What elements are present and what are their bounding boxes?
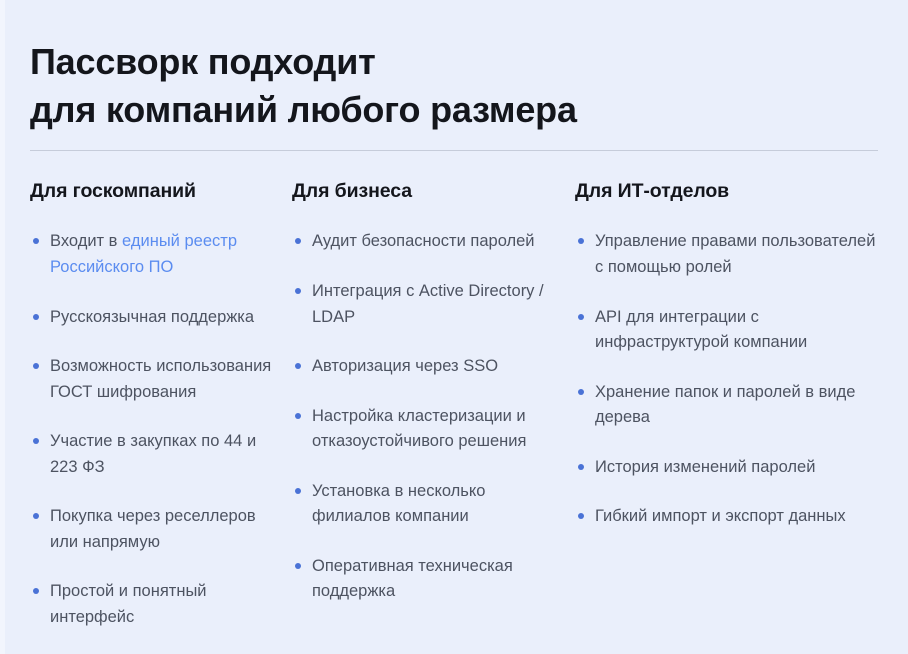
page-title: Пассворк подходит для компаний любого ра… <box>30 38 850 134</box>
list-item-text: Установка в несколько филиалов компании <box>312 482 485 526</box>
feature-list: Аудит безопасности паролейИнтеграция с A… <box>292 229 555 605</box>
list-item: Входит в единый реестр Российского ПО <box>30 229 274 280</box>
bullet-dot-icon <box>33 588 39 594</box>
page-title-line-2: для компаний любого размера <box>30 86 850 134</box>
bullet-dot-icon <box>33 238 39 244</box>
list-item: Управление правами пользователей с помощ… <box>575 229 888 280</box>
feature-list: Входит в единый реестр Российского ПОРус… <box>30 229 274 630</box>
feature-column: Для ИТ-отделовУправление правами пользов… <box>575 180 908 530</box>
list-item: Настройка кластеризации и отказоустойчив… <box>292 404 555 455</box>
list-item: Хранение папок и паролей в виде дерева <box>575 380 888 431</box>
list-item: API для интеграции с инфраструктурой ком… <box>575 305 888 356</box>
bullet-dot-icon <box>295 563 301 569</box>
list-item: Авторизация через SSO <box>292 354 555 380</box>
list-item: Интеграция с Active Directory / LDAP <box>292 279 555 330</box>
list-item: Возможность использования ГОСТ шифровани… <box>30 354 274 405</box>
list-item-text: Гибкий импорт и экспорт данных <box>595 507 846 525</box>
bullet-dot-icon <box>295 363 301 369</box>
bullet-dot-icon <box>295 413 301 419</box>
list-item-text: Покупка через реселлеров или напрямую <box>50 507 256 551</box>
list-item-text: Возможность использования ГОСТ шифровани… <box>50 357 271 401</box>
list-item: Оперативная техническая поддержка <box>292 554 555 605</box>
bullet-dot-icon <box>578 314 584 320</box>
feature-columns: Для госкомпанийВходит в единый реестр Ро… <box>0 180 908 631</box>
column-title: Для ИТ-отделов <box>575 180 888 203</box>
column-title: Для госкомпаний <box>30 180 274 203</box>
bullet-dot-icon <box>295 488 301 494</box>
list-item-text: Управление правами пользователей с помощ… <box>595 232 875 276</box>
list-item-text: Настройка кластеризации и отказоустойчив… <box>312 407 526 451</box>
feature-column: Для госкомпанийВходит в единый реестр Ро… <box>0 180 292 631</box>
bullet-dot-icon <box>578 238 584 244</box>
list-item-text: Аудит безопасности паролей <box>312 232 535 250</box>
bullet-dot-icon <box>295 288 301 294</box>
list-item-text: История изменений паролей <box>595 458 815 476</box>
bullet-dot-icon <box>33 363 39 369</box>
list-item-text: API для интеграции с инфраструктурой ком… <box>595 308 807 352</box>
feature-list: Управление правами пользователей с помощ… <box>575 229 888 530</box>
list-item: История изменений паролей <box>575 455 888 481</box>
column-title: Для бизнеса <box>292 180 555 203</box>
list-item-text: Участие в закупках по 44 и 223 ФЗ <box>50 432 256 476</box>
list-item-text: Интеграция с Active Directory / LDAP <box>312 282 544 326</box>
bullet-dot-icon <box>33 314 39 320</box>
bullet-dot-icon <box>578 389 584 395</box>
bullet-dot-icon <box>295 238 301 244</box>
horizontal-divider <box>30 150 878 151</box>
bullet-dot-icon <box>578 513 584 519</box>
bullet-dot-icon <box>33 438 39 444</box>
bullet-dot-icon <box>33 513 39 519</box>
list-item: Гибкий импорт и экспорт данных <box>575 504 888 530</box>
feature-column: Для бизнесаАудит безопасности паролейИнт… <box>292 180 575 605</box>
list-item-text: Русскоязычная поддержка <box>50 308 254 326</box>
list-item-text: Хранение папок и паролей в виде дерева <box>595 383 855 427</box>
list-item: Установка в несколько филиалов компании <box>292 479 555 530</box>
list-item: Участие в закупках по 44 и 223 ФЗ <box>30 429 274 480</box>
list-item-text: Авторизация через SSO <box>312 357 498 375</box>
bullet-dot-icon <box>578 464 584 470</box>
list-item-text: Оперативная техническая поддержка <box>312 557 513 601</box>
page-title-line-1: Пассворк подходит <box>30 38 850 86</box>
list-item: Русскоязычная поддержка <box>30 305 274 331</box>
page-root: Пассворк подходит для компаний любого ра… <box>0 0 908 654</box>
list-item-text: Простой и понятный интерфейс <box>50 582 207 626</box>
list-item: Аудит безопасности паролей <box>292 229 555 255</box>
list-item: Покупка через реселлеров или напрямую <box>30 504 274 555</box>
list-item-text: Входит в <box>50 232 122 250</box>
list-item: Простой и понятный интерфейс <box>30 579 274 630</box>
